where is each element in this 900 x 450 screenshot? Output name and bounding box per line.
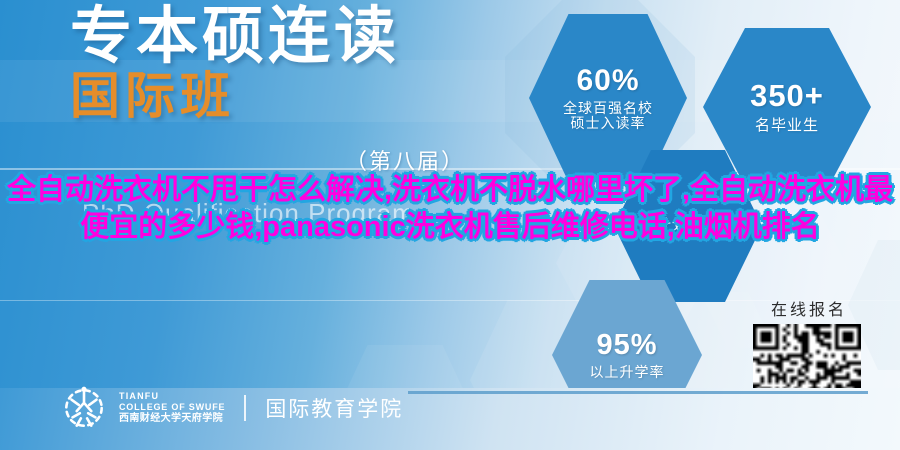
headline-sub: 国际班 <box>70 70 500 123</box>
university-crest-icon <box>58 382 110 434</box>
stat-label-95: 以上升学率 <box>590 365 665 381</box>
stat-label-dark: 计划录取 <box>656 218 720 235</box>
footer-logo-en2: COLLEGE OF SWUFE <box>119 402 225 413</box>
footer-logo-en1: TIANFU <box>119 391 225 402</box>
headline-block: 专本硕连读 国际班 （第八届） PhD Qualification Progra… <box>70 6 500 123</box>
footer-divider-rule <box>408 391 868 394</box>
headline-english-subtitle: PhD Qualification Program <box>82 198 415 229</box>
stat-label-60-line1: 全球百强名校 <box>563 101 653 117</box>
stat-value-60: 60% <box>576 64 639 98</box>
headline-main: 专本硕连读 <box>70 6 500 68</box>
stat-label-350: 名毕业生 <box>755 118 819 135</box>
stat-label-60-line2: 硕士入读率 <box>571 116 646 132</box>
poster-image: 专本硕连读 国际班 （第八届） PhD Qualification Progra… <box>0 0 900 450</box>
footer-logo-cn: 西南财经大学天府学院 <box>119 413 225 425</box>
footer-logo-block: TIANFU COLLEGE OF SWUFE 西南财经大学天府学院 国际教育学… <box>58 382 403 434</box>
stat-value-350: 350+ <box>750 79 824 114</box>
headline-edition: （第八届） <box>345 144 465 176</box>
footer-department-name: 国际教育学院 <box>265 393 403 423</box>
footer-logo-text: TIANFU COLLEGE OF SWUFE 西南财经大学天府学院 <box>119 391 225 424</box>
footer-vertical-divider <box>244 395 246 421</box>
stat-value-95: 95% <box>596 329 657 361</box>
qr-label: 在线报名 <box>753 296 865 320</box>
